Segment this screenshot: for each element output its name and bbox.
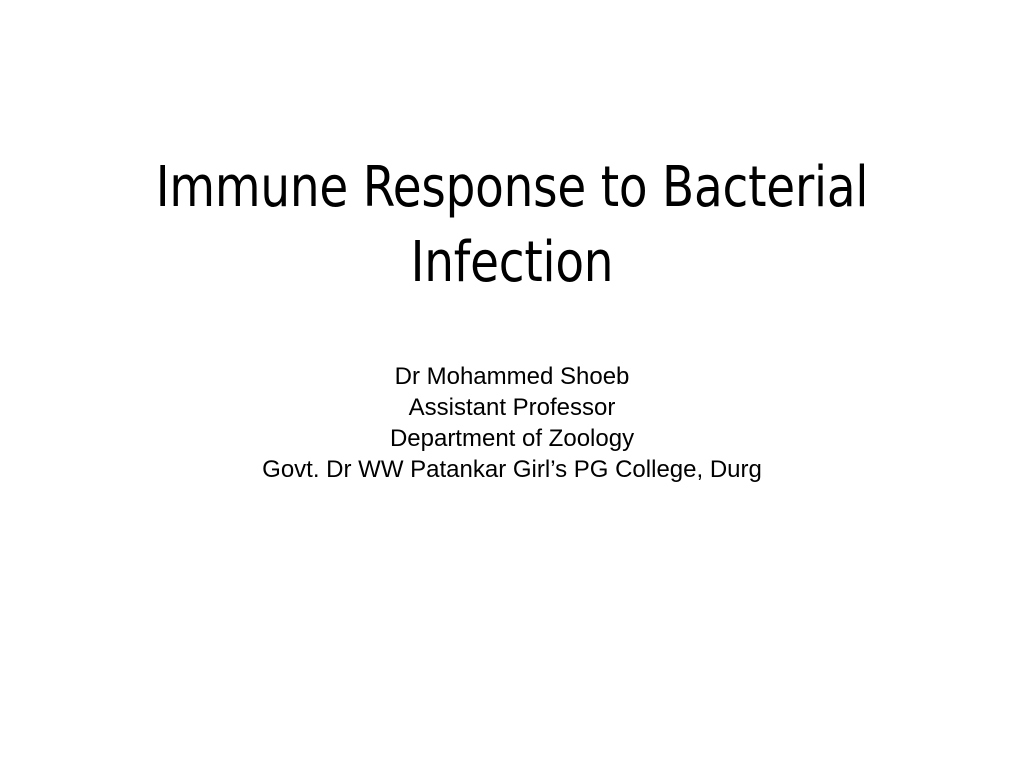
slide-canvas: Immune Response to Bacterial Infection D… — [0, 0, 1024, 768]
subtitle-line-department: Department of Zoology — [112, 423, 912, 454]
subtitle-line-designation: Assistant Professor — [112, 392, 912, 423]
title-placeholder: Immune Response to Bacterial Infection — [112, 150, 912, 300]
subtitle-line-institution: Govt. Dr WW Patankar Girl’s PG College, … — [112, 454, 912, 485]
subtitle-placeholder: Dr Mohammed Shoeb Assistant Professor De… — [112, 361, 912, 485]
subtitle-line-presenter-name: Dr Mohammed Shoeb — [112, 361, 912, 392]
page-title: Immune Response to Bacterial Infection — [140, 150, 884, 300]
